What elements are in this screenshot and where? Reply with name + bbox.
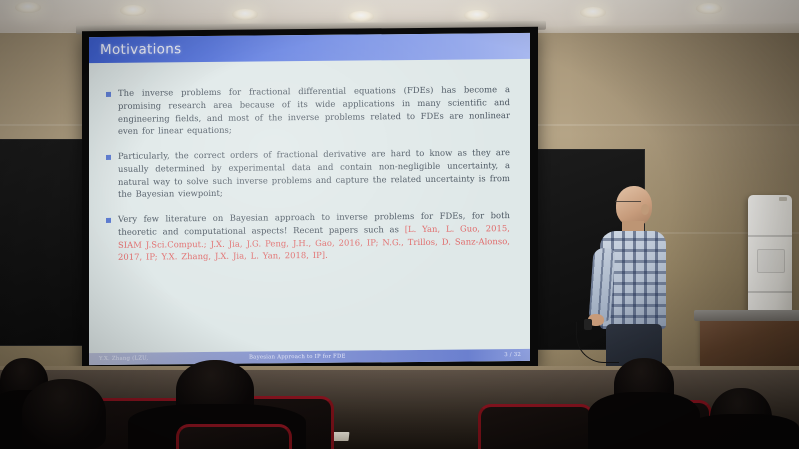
bullet-text: The inverse problems for fractional diff… — [118, 83, 510, 138]
bullet-text: Particularly, the correct orders of frac… — [118, 146, 510, 201]
blackboard-panel-left — [0, 139, 94, 346]
audience-head — [22, 379, 106, 449]
slide-body: The inverse problems for fractional diff… — [89, 59, 530, 353]
slide-bullet: The inverse problems for fractional diff… — [106, 83, 510, 138]
recessed-downlight — [15, 2, 41, 13]
recessed-downlight — [120, 5, 146, 16]
presenter-ear — [641, 204, 649, 215]
ac-badge — [779, 197, 787, 201]
ac-seam — [748, 291, 792, 293]
lecture-hall-photo: Motivations The inverse problems for fra… — [0, 0, 799, 449]
footer-talk-title: Bayesian Approach to IP for FDE — [249, 352, 479, 360]
slide-bullet: Very few literature on Bayesian approach… — [106, 209, 510, 264]
auditorium-chair — [478, 404, 594, 449]
footer-page-number: 3 / 32 — [479, 352, 530, 358]
podium-top-surface — [694, 310, 799, 321]
audience-body — [686, 414, 799, 449]
bullet-square-icon — [106, 155, 111, 160]
recessed-downlight — [232, 9, 258, 20]
projection-screen: Motivations The inverse problems for fra… — [82, 27, 538, 372]
recessed-downlight — [580, 7, 606, 18]
slide-title: Motivations — [100, 41, 181, 58]
bullet-square-icon — [106, 218, 111, 223]
auditorium-chair — [176, 424, 292, 449]
ac-seam — [748, 235, 792, 237]
recessed-downlight — [696, 3, 722, 14]
glasses-icon — [615, 201, 641, 207]
wooden-podium — [700, 318, 799, 366]
slide-bullet: Particularly, the correct orders of frac… — [106, 146, 510, 201]
presentation-slide: Motivations The inverse problems for fra… — [89, 33, 530, 365]
bullet-square-icon — [106, 92, 111, 97]
bullet-text-with-citation: Very few literature on Bayesian approach… — [118, 209, 510, 264]
recessed-downlight — [464, 10, 490, 21]
air-conditioner-unit — [748, 195, 792, 325]
recessed-downlight — [348, 11, 374, 22]
ac-vent — [757, 249, 785, 273]
audience-body — [588, 392, 700, 449]
